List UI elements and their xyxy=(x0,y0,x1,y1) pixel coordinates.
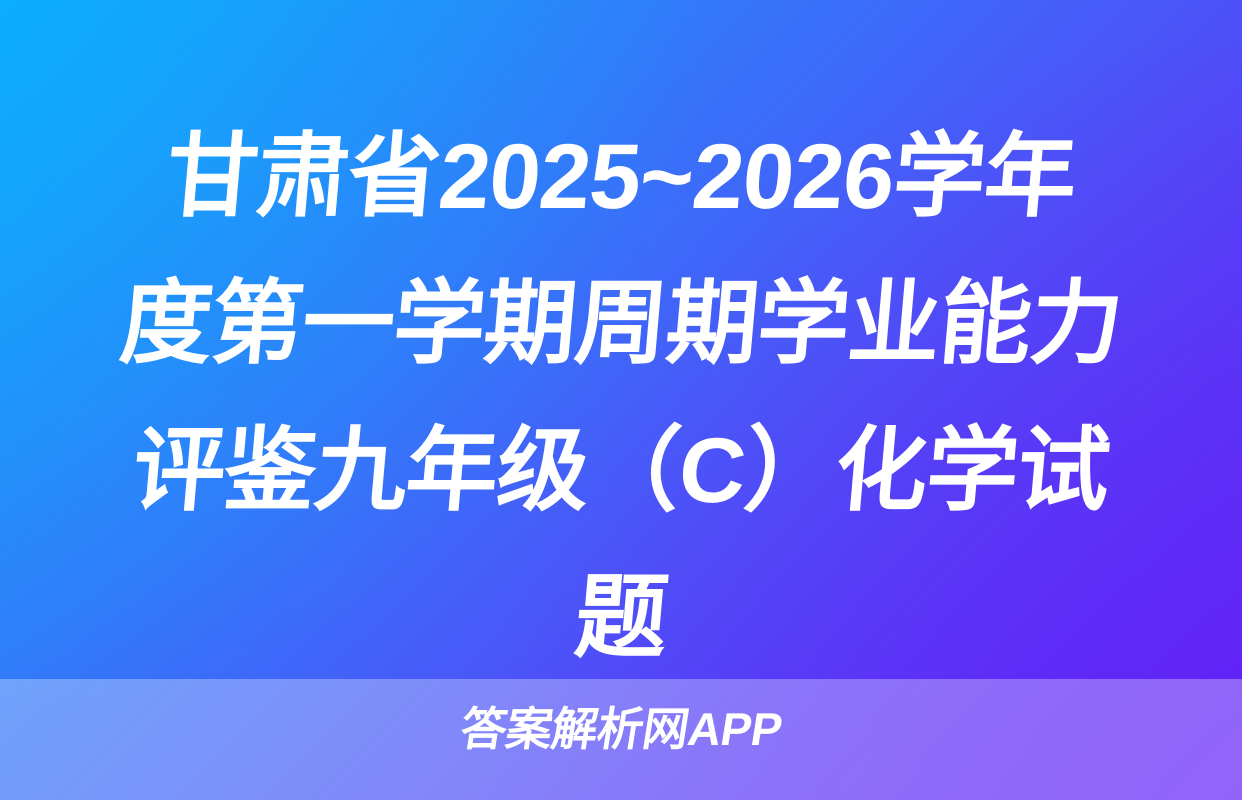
title-line-4: 题 xyxy=(42,545,1201,692)
poster-canvas: 甘肃省2025~2026学年 度第一学期周期学业能力 评鉴九年级（C）化学试 题… xyxy=(0,0,1242,800)
app-watermark-label: 答案解析网APP xyxy=(457,703,786,755)
title-line-1: 甘肃省2025~2026学年 xyxy=(42,104,1201,251)
footer-banner: 答案解析网APP xyxy=(0,679,1242,800)
page-title: 甘肃省2025~2026学年 度第一学期周期学业能力 评鉴九年级（C）化学试 题 xyxy=(0,104,1242,692)
title-line-2: 度第一学期周期学业能力 xyxy=(42,251,1201,398)
title-line-3: 评鉴九年级（C）化学试 xyxy=(42,398,1201,545)
